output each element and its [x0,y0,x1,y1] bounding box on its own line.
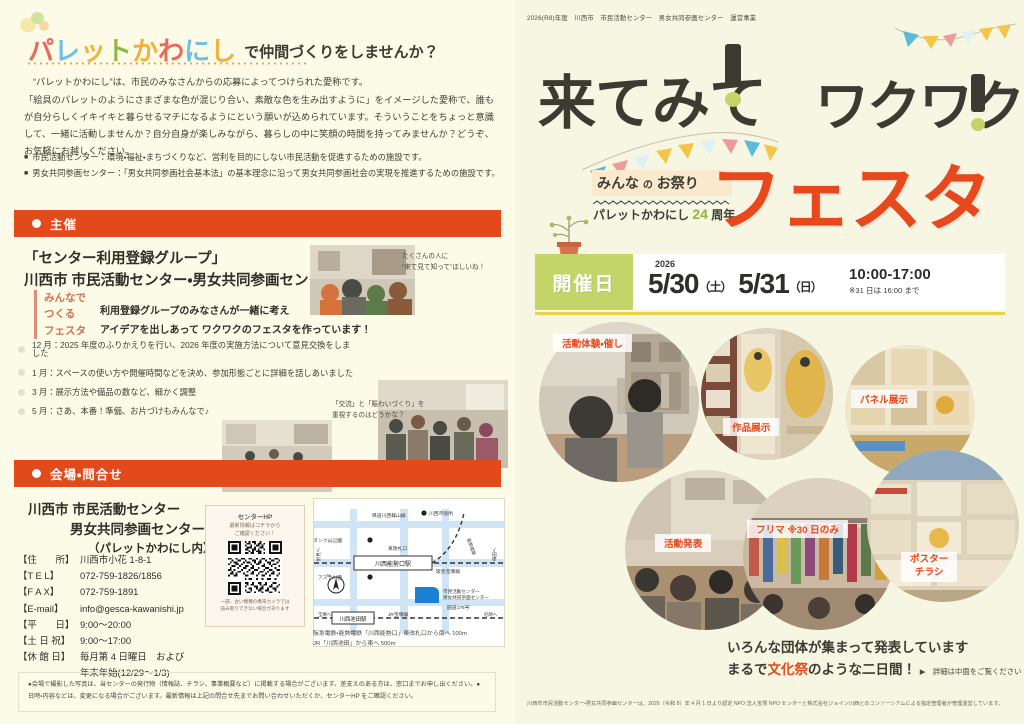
contact-row: 【E-mail】info@gesca-kawanishi.jp [18,601,184,617]
contact-key: 【F A X】 [18,584,80,600]
svg-text:国道176号: 国道176号 [447,604,470,611]
speech-bubble-1: たくさんの人に “来て見て知って”ほしいね！ [402,252,512,274]
title-exclaim-1 [725,44,741,107]
event-date-1-dow: （土） [699,280,732,294]
contact-value-tel[interactable]: 072-759-1826/1856 [80,568,162,584]
svg-text:N: N [327,573,330,578]
venue-name-line-2: 男女共同参画センター [28,520,215,540]
anniversary-number: 24 [692,206,708,222]
title-wakuwaku: ワクワク [815,62,1023,141]
timeline-text: 1 月：スペースの使い方や開催時間などを決め、参加形態ごとに詳細を話しあいました [32,369,353,377]
minna-tag-line-3: フェスタ [44,323,106,339]
svg-text:川西市役所: 川西市役所 [429,510,453,517]
photo-works-exhibition [701,328,833,460]
brand-logo-text: パレットかわにし [28,38,236,64]
section-header-organizer: 主催 [14,210,501,237]
timeline-list: 12 月：2025 年度のふりかえりを行い、2026 年度の実施方法について意見… [18,341,358,426]
photo-label-activity: 活動体験・催し [553,334,632,352]
contact-row: 【F A X】072-759-1891 [18,584,184,600]
photo-art-workshop [310,245,415,315]
map-caption: 阪急電鉄・能勢電鉄「川西能勢口」東改札口から南へ 100m JR「川西池田」から… [313,630,508,649]
qr-footnote: 一部、古い機種の携帯カメラでは 読み取りできない場合があります [217,599,294,613]
photo-label-flea-text: フリマ [756,525,785,536]
right-panel: 2026(R8)年度 川西市 市民活動センター 男女共同参画センター 運営事業 … [515,0,1024,724]
contact-row: 【T E L】072-759-1826/1856 [18,568,184,584]
event-date-2: 5/31 [738,268,789,299]
timeline-dot-icon [18,408,25,415]
photo-circle-works [701,328,833,460]
left-footnote: ●会場で撮影した写真は、当センターの発行物（情報誌、チラシ、事業概要など）に掲載… [18,672,496,712]
right-footer-note: 川西市市民活動センター・男女共同参画センターは、2026（令和 8）年 4 月 … [527,700,1017,708]
qr-code-icon[interactable] [228,541,282,595]
date-label-box: 開催日 [535,254,633,310]
svg-text:川西能勢口駅: 川西能勢口駅 [375,560,411,568]
timeline-text: 12 月：2025 年度のふりかえりを行い、2026 年度の実施方法について意見… [32,341,358,358]
minna-description-line-2: アイデアを出しあって ワクワクのフェスタを作っています！ [100,322,371,341]
svg-text:尼崎へ: 尼崎へ [484,611,498,618]
brand-logo: パレットかわにし で仲間づくりをしませんか？ [28,24,498,64]
date-label-text: 開催日 [552,269,615,296]
intro-paragraphs: “パレットかわにし”は、市民のみなさんからの応募によってつけられた愛称です。 「… [24,74,494,161]
palette-blob-icon [20,12,54,42]
minna-matsuri-a: みんな [597,175,639,191]
minna-matsuri-text: みんな の お祭り [597,173,699,193]
photo-group-meeting [378,380,508,468]
contact-value-fax: 072-759-1891 [80,584,138,600]
closing-highlight: 文化祭 [768,662,809,677]
anniversary-prefix: パレットかわにし [593,208,692,222]
minna-tag-line-2: つくる [44,306,106,322]
svg-text:市民活動センター: 市民活動センター [443,588,480,595]
bunting-top-icon [893,22,1018,64]
timeline-text: 3 月：展示方法や備品の数など、細かく調整 [32,388,196,396]
event-time: 10:00-17:00 [849,266,931,283]
timeline-item: 5 月：さあ、本番！準備、お片づけもみんなで♪ [18,407,358,415]
contact-value-email[interactable]: info@gesca-kawanishi.jp [80,601,184,617]
facility-bullet-2: ■男女共同参画センター：「男女共同参画社会基本法」の基本理念に沿って男女共同参画… [24,166,504,182]
contact-key: 【休 館 日】 [18,649,80,665]
closing-line-2a: まるで [727,662,768,677]
date-band-underline [535,312,1005,315]
access-map: 川西能勢口駅 川西池田駅 市民活動センター 男女共同参画センター 県道川西篠山線… [313,498,505,647]
contact-table: 【住 所】川西市小花 1-8-1 【T E L】072-759-1826/185… [18,552,184,681]
flyer-page: パレットかわにし で仲間づくりをしませんか？ “パレットかわにし”は、市民のみな… [0,0,1024,724]
contact-value: 川西市小花 1-8-1 [80,552,151,568]
contact-key: 【住 所】 [18,552,80,568]
logo-underline-dots [26,62,306,65]
contact-key: 【平 日】 [18,617,80,633]
svg-text:阪急宝塚線: 阪急宝塚線 [436,568,460,575]
contact-row: 【休 館 日】毎月第 4 日曜日 および [18,649,184,665]
organizer-names: 「センター利用登録グループ」 川西市 市民活動センター・男女共同参画センター [24,248,337,293]
svg-text:梅田へ: 梅田へ [491,547,498,561]
svg-text:妙見へ: 妙見へ [315,547,322,561]
closing-line-2c: のような二日間！ [808,662,916,677]
minna-matsuri-c: お祭り [657,175,699,191]
bullet-dot-icon [32,219,41,228]
event-date-1: 5/30 [648,268,699,299]
svg-text:東改札口: 東改札口 [388,545,407,552]
closing-line-2: まるで文化祭のような二日間！ ▶ 詳細は中面をご覧ください [727,659,1022,681]
photo-label-panel: パネル展示 [851,390,917,408]
svg-text:男女共同参画センター: 男女共同参画センター [443,594,489,601]
section-title-venue: 会場・問合せ [50,464,123,483]
timeline-dot-icon [18,389,25,396]
venue-name: 川西市 市民活動センター 男女共同参画センター （パレットかわにし内） [28,500,215,558]
contact-value: 9:00〜17:00 [80,633,131,649]
photo-meeting-room [378,380,508,468]
svg-text:県道川西篠山線: 県道川西篠山線 [372,512,406,519]
qr-title: センターHP [238,512,272,521]
photo-label-flea-sub: ※30 日のみ [787,525,838,536]
intro-line-1: “パレットかわにし”は、市民のみなさんからの応募によってつけられた愛称です。 [24,74,494,91]
timeline-text: 5 月：さあ、本番！準備、お片づけもみんなで♪ [32,407,209,415]
facility-bullet-1: ■市民活動センター：環境・福祉・まちづくりなど、営利を目的にしない市民活動を促進… [24,150,504,166]
svg-text:川西池田駅: 川西池田駅 [340,615,368,623]
timeline-dot-icon [18,369,25,376]
title-festa: フェスタ [710,140,990,245]
event-time-note: ※31 日は 16:00 まで [849,285,920,296]
contact-row: 【土 日 祝】9:00〜17:00 [18,633,184,649]
section-header-venue: 会場・問合せ [14,460,501,487]
contact-key: 【E-mail】 [18,601,80,617]
svg-text:タンク山公園: タンク山公園 [314,537,342,544]
minna-tag-line-1: みんなで [44,290,106,306]
qr-subtitle: 最新情報はコチラから ご確認ください！ [230,523,281,538]
left-panel: パレットかわにし で仲間づくりをしませんか？ “パレットかわにし”は、市民のみな… [0,0,515,724]
svg-text:宝塚へ: 宝塚へ [318,611,332,618]
timeline-item: 12 月：2025 年度のふりかえりを行い、2026 年度の実施方法について意見… [18,341,358,358]
timeline-item: 3 月：展示方法や備品の数など、細かく調整 [18,388,358,396]
closing-line-1: いろんな団体が集まって発表しています [727,637,1022,659]
contact-row: 【平 日】9:00〜20:00 [18,617,184,633]
closing-message: いろんな団体が集まって発表しています まるで文化祭のような二日間！ ▶ 詳細は中… [727,637,1022,680]
minna-tag: みんなで つくる フェスタ [34,290,106,339]
fiscal-year-line: 2026(R8)年度 川西市 市民活動センター 男女共同参画センター 運営事業 [527,13,756,22]
event-date-2-dow: （日） [789,280,822,294]
facility-bullets: ■市民活動センター：環境・福祉・まちづくりなど、営利を目的にしない市民活動を促進… [24,150,504,182]
photo-workshop-hands [310,245,415,315]
contact-value: 毎月第 4 日曜日 および [80,649,184,665]
venue-name-line-1: 川西市 市民活動センター [28,502,180,517]
photo-label-works: 作品展示 [723,418,779,436]
photo-label-poster: ポスター チラシ [901,552,957,582]
photo-label-presentation: 活動発表 [655,534,711,552]
closing-detail-note: ▶ 詳細は中面をご覧ください [920,667,1022,676]
svg-text:JR宝塚線: JR宝塚線 [388,611,408,618]
title-exclaim-2 [971,74,985,131]
contact-key: 【土 日 祝】 [18,633,80,649]
organizer-name-1: 「センター利用登録グループ」 [24,248,337,270]
qr-code-box[interactable]: センターHP 最新情報はコチラから ご確認ください！ [205,505,305,627]
contact-value: 9:00〜20:00 [80,617,131,633]
contact-row: 【住 所】川西市小花 1-8-1 [18,552,184,568]
contact-key: 【T E L】 [18,568,80,584]
event-dates: 5/30（土） 5/31（日） [648,268,822,300]
map-graphic: 川西能勢口駅 川西池田駅 市民活動センター 男女共同参画センター 県道川西篠山線… [314,499,504,646]
section-title-organizer: 主催 [50,214,77,233]
bullet-dot-icon [32,469,41,478]
timeline-item: 1 月：スペースの使い方や開催時間などを決め、参加形態ごとに詳細を話しあいました [18,369,358,377]
timeline-dot-icon [18,346,25,353]
speech-bubble-2: 「交流」と「賑わいづくり」を 重視するのはどうかな？ [332,400,440,422]
minna-matsuri-b: の [643,180,653,191]
photo-label-flea: フリマ ※30 日のみ [747,520,848,538]
brand-tagline: で仲間づくりをしませんか？ [244,41,439,64]
